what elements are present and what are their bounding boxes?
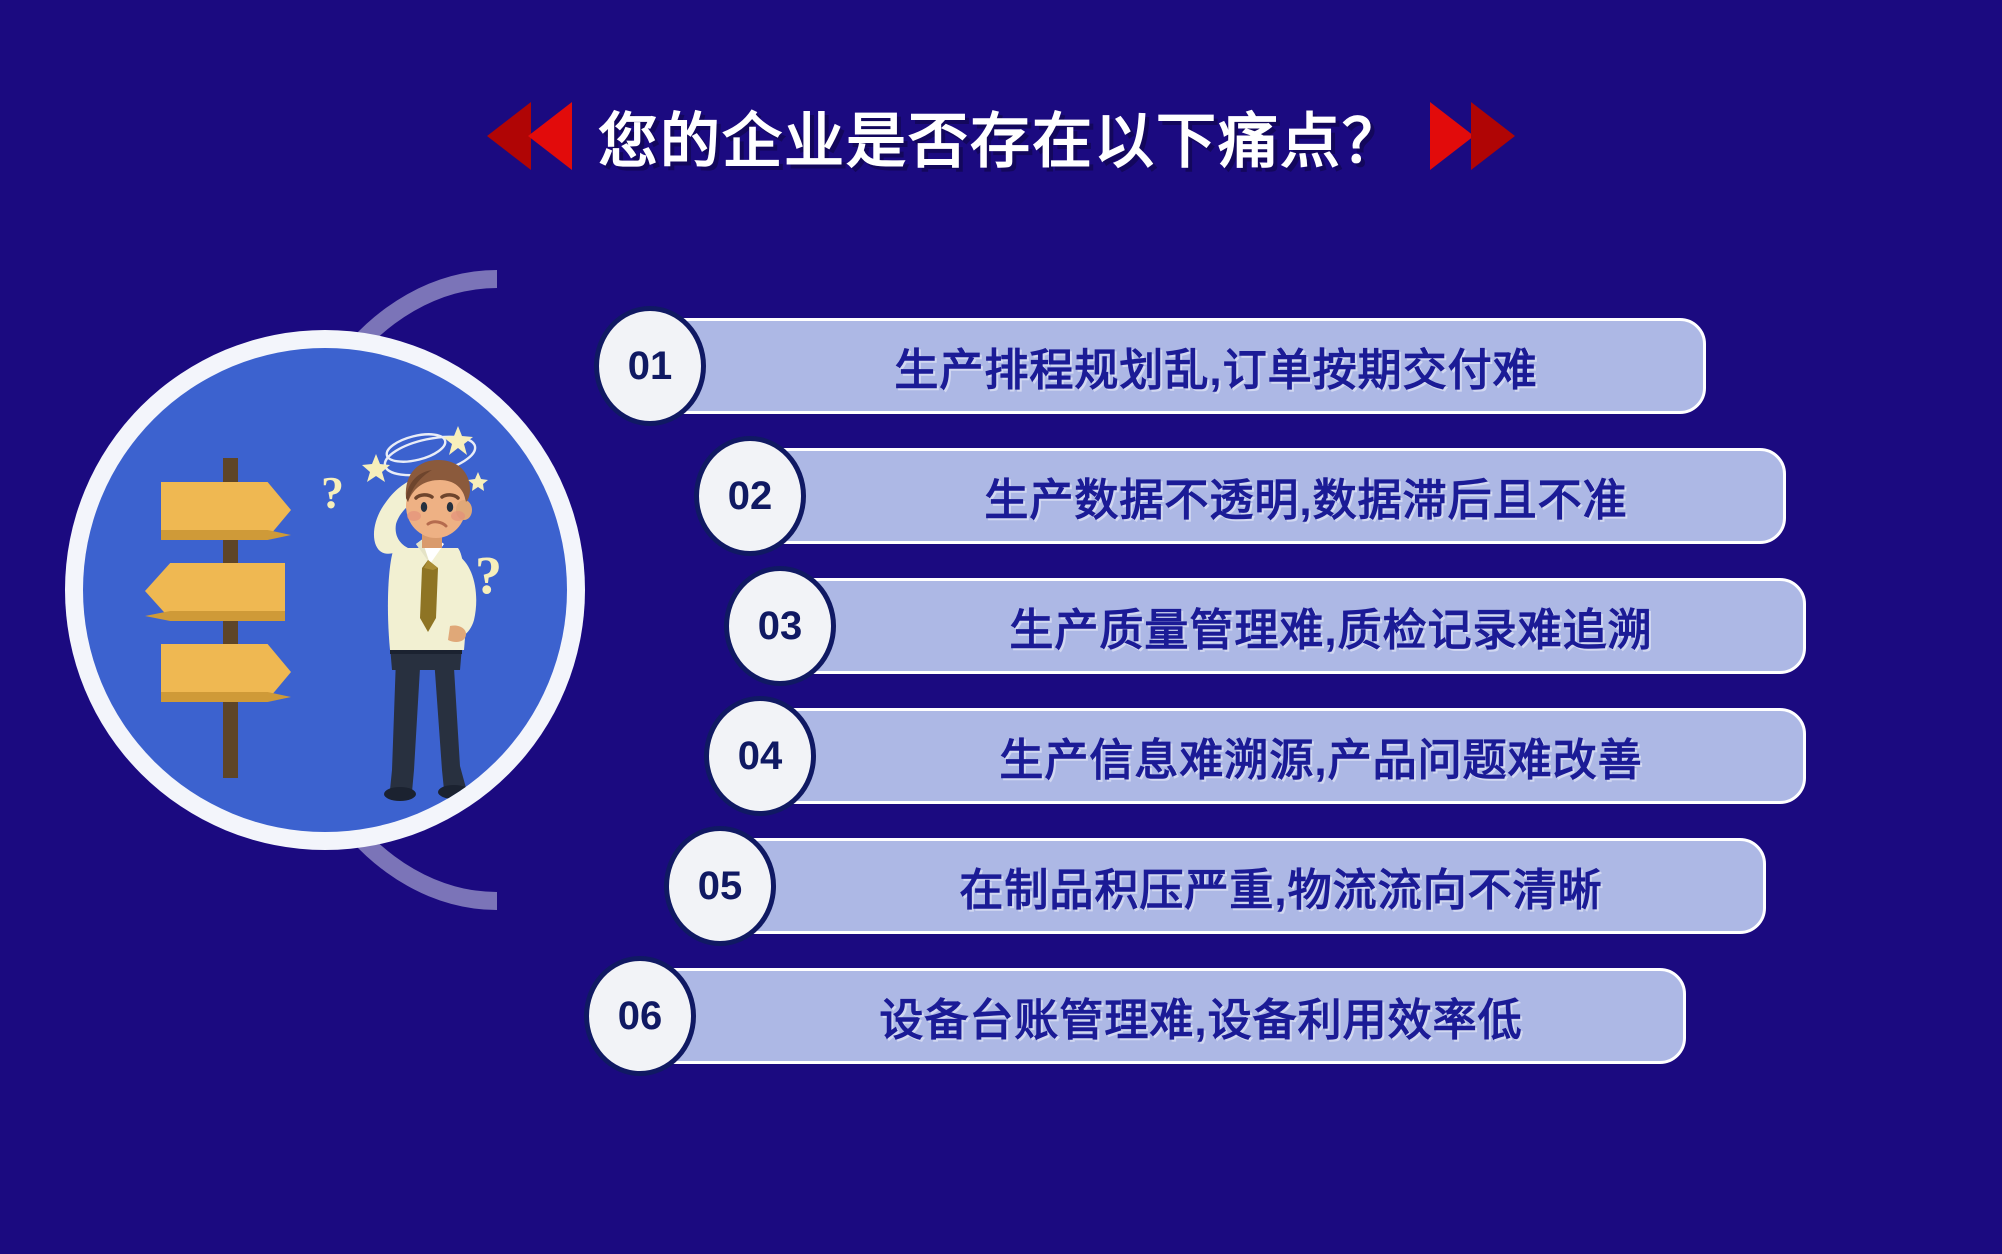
page-header: 您的企业是否存在以下痛点？ <box>0 86 2002 186</box>
list-item-label: 生产质量管理难,质检记录难追溯 <box>919 594 1652 658</box>
list-item-bar[interactable]: 设备台账管理难,设备利用效率低 <box>626 968 1686 1064</box>
list-item-number-badge: 02 <box>694 436 806 556</box>
list-item[interactable]: 设备台账管理难,设备利用效率低 06 <box>626 968 1686 1064</box>
double-chevron-right-icon <box>1430 102 1515 170</box>
list-item[interactable]: 生产排程规划乱,订单按期交付难 01 <box>636 318 1706 414</box>
list-item-label: 在制品积压严重,物流流向不清晰 <box>869 854 1602 918</box>
list-item-label: 生产信息难溯源,产品问题难改善 <box>909 724 1642 788</box>
list-item-bar[interactable]: 生产数据不透明,数据滞后且不准 <box>736 448 1786 544</box>
list-item-label: 生产数据不透明,数据滞后且不准 <box>894 464 1627 528</box>
page-title: 您的企业是否存在以下痛点？ <box>598 93 1404 180</box>
list-item-bar[interactable]: 生产信息难溯源,产品问题难改善 <box>746 708 1806 804</box>
list-item[interactable]: 生产质量管理难,质检记录难追溯 03 <box>766 578 1806 674</box>
list-item-label: 生产排程规划乱,订单按期交付难 <box>804 334 1537 398</box>
list-item-bar[interactable]: 在制品积压严重,物流流向不清晰 <box>706 838 1766 934</box>
list-item-label: 设备台账管理难,设备利用效率低 <box>789 984 1522 1048</box>
list-item-number-badge: 06 <box>584 956 696 1076</box>
list-item[interactable]: 生产数据不透明,数据滞后且不准 02 <box>736 448 1786 544</box>
list-item-number-badge: 04 <box>704 696 816 816</box>
list-item-number-badge: 03 <box>724 566 836 686</box>
list-item-bar[interactable]: 生产排程规划乱,订单按期交付难 <box>636 318 1706 414</box>
list-item-bar[interactable]: 生产质量管理难,质检记录难追溯 <box>766 578 1806 674</box>
list-item-number-badge: 01 <box>594 306 706 426</box>
double-chevron-left-icon <box>487 102 572 170</box>
list-item[interactable]: 生产信息难溯源,产品问题难改善 04 <box>746 708 1806 804</box>
pain-point-list: 生产排程规划乱,订单按期交付难 01 生产数据不透明,数据滞后且不准 02 生产… <box>0 318 2002 1118</box>
list-item-number-badge: 05 <box>664 826 776 946</box>
list-item[interactable]: 在制品积压严重,物流流向不清晰 05 <box>706 838 1766 934</box>
